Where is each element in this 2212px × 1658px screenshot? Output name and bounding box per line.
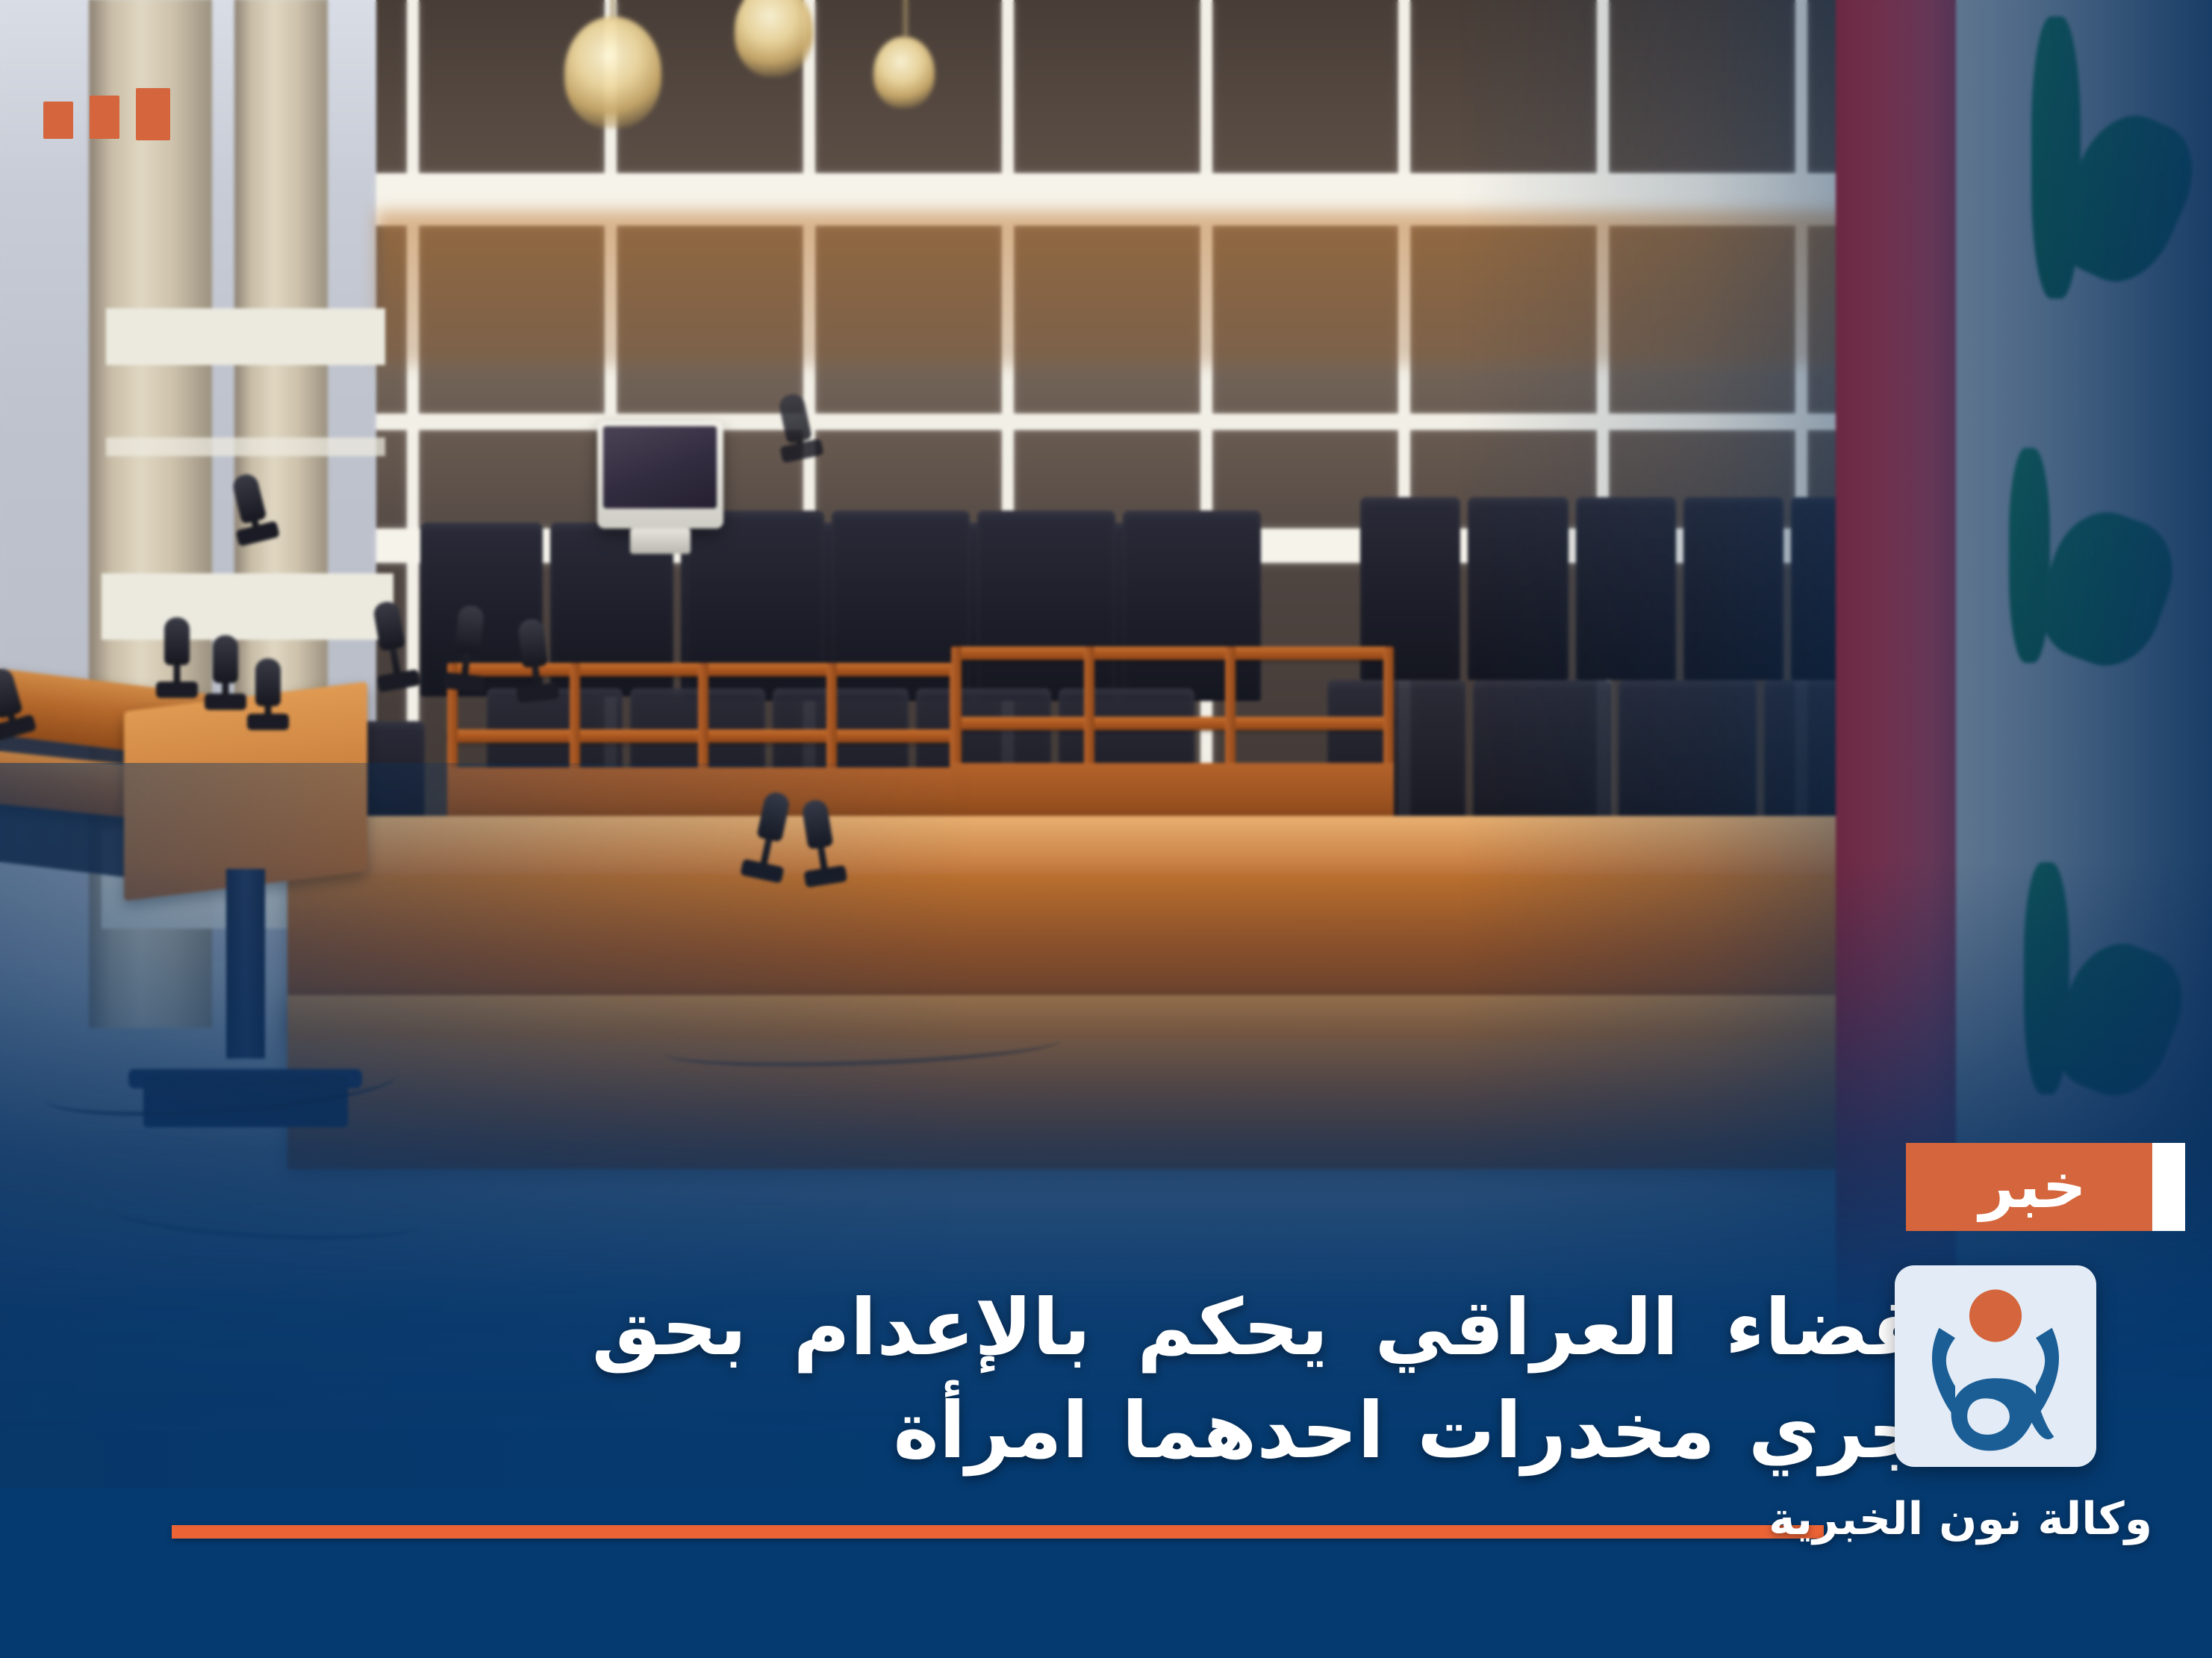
brand-block: خبر وكالة نون الخبرية bbox=[1839, 1143, 2152, 1546]
chandelier-icon bbox=[564, 16, 661, 128]
microphone-icon bbox=[0, 673, 13, 723]
headline-line-2: تاجري مخدرات احدهما امرأة bbox=[399, 1380, 2027, 1482]
tick-bar-3 bbox=[43, 102, 73, 139]
agency-name: وكالة نون الخبرية bbox=[1839, 1492, 2152, 1546]
balcony-rail bbox=[106, 437, 384, 455]
tick-bar-2 bbox=[90, 96, 119, 139]
corner-ticks-icon bbox=[43, 88, 170, 140]
balcony-slab bbox=[102, 573, 393, 640]
dock-railing bbox=[951, 646, 1394, 822]
badge-white-edge bbox=[2152, 1143, 2185, 1231]
news-badge-label: خبر bbox=[1972, 1156, 2087, 1218]
balcony-slab bbox=[106, 308, 384, 365]
headline-line-1: القضاء العراقي يحكم بالإعدام بحق bbox=[399, 1277, 2027, 1379]
chandelier-icon bbox=[873, 37, 935, 108]
news-card: القضاء العراقي يحكم بالإعدام بحق تاجري م… bbox=[0, 0, 2212, 1658]
chandelier-icon bbox=[735, 0, 813, 77]
curtain-left-2 bbox=[234, 0, 327, 796]
microphone-icon bbox=[791, 399, 801, 447]
monitor-display bbox=[597, 421, 723, 529]
tick-bar-1 bbox=[136, 88, 170, 140]
news-badge: خبر bbox=[1906, 1143, 2152, 1231]
microphone-icon bbox=[244, 479, 257, 530]
headline-block: القضاء العراقي يحكم بالإعدام بحق تاجري م… bbox=[399, 1277, 2027, 1482]
noon-agency-logo-icon bbox=[1895, 1265, 2096, 1467]
bottom-rule bbox=[172, 1525, 1824, 1539]
